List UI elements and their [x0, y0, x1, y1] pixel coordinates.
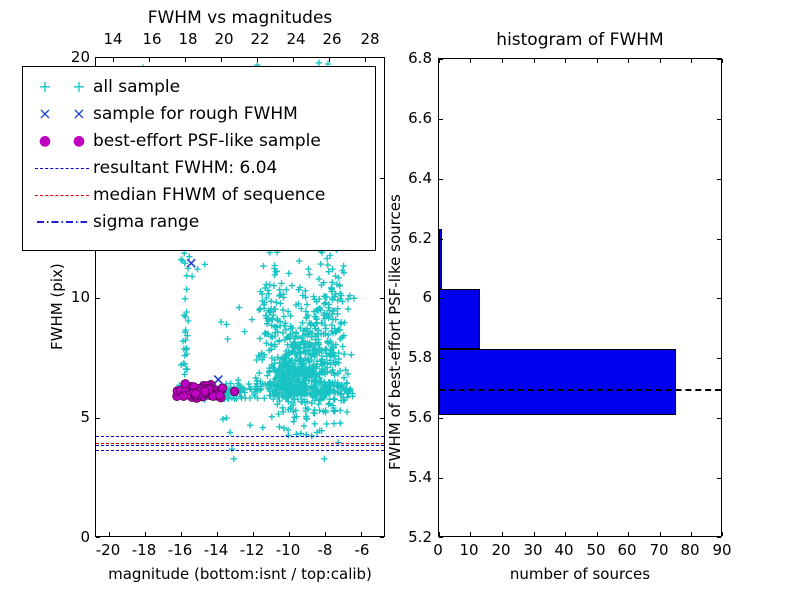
figure-canvas: FWHM vs magnitudes 14 16 18 20 22 24 26 … [0, 0, 800, 600]
histogram-xtick: 30 [523, 541, 542, 559]
axis-tick [660, 59, 661, 63]
scatter-xtop-tick: 26 [322, 30, 341, 48]
scatter-xtop-tick: 20 [214, 30, 233, 48]
scatter-xtop-tick: 28 [360, 30, 379, 48]
sigma-range-lower-line [96, 450, 384, 451]
axis-tick [628, 532, 629, 536]
scatter-ytick: 20 [62, 48, 90, 66]
legend-label: all sample [93, 77, 180, 97]
axis-tick [439, 59, 443, 60]
legend-marker-rough-fwhm: × × [31, 104, 93, 124]
scatter-xtick: -8 [318, 541, 333, 559]
axis-tick [439, 119, 443, 120]
legend-label: sigma range [93, 212, 199, 232]
scatter-xtick: -18 [132, 541, 157, 559]
axis-tick [717, 59, 721, 60]
axis-tick [722, 59, 723, 63]
axis-tick [439, 358, 443, 359]
axis-tick [439, 239, 443, 240]
histogram-axes [438, 58, 722, 537]
histogram-bar [439, 349, 676, 415]
histogram-ylabel: FWHM of best-effort PSF-like sources [386, 194, 404, 470]
plus-icon: + [38, 79, 51, 95]
legend-row-all-sample[interactable]: + + all sample [31, 73, 365, 100]
axis-tick [717, 358, 721, 359]
axis-tick [502, 59, 503, 63]
axis-tick [597, 59, 598, 63]
axis-tick [565, 532, 566, 536]
histogram-median-line [439, 389, 721, 391]
axis-tick [439, 298, 443, 299]
circle-icon: ● [39, 134, 51, 148]
histogram-title: histogram of FWHM [496, 30, 663, 50]
legend-row-psf-sample[interactable]: ● ● best-effort PSF-like sample [31, 127, 365, 154]
scatter-xtick: -10 [276, 541, 301, 559]
scatter-ytick: 5 [62, 408, 90, 426]
axis-tick [439, 478, 443, 479]
histogram-ytick: 6.8 [396, 49, 432, 67]
scatter-xtick: -12 [240, 541, 265, 559]
sigma-range-upper-line [96, 436, 384, 437]
axis-tick [439, 418, 443, 419]
scatter-xtick: -6 [355, 541, 370, 559]
scatter-xtick: -20 [96, 541, 121, 559]
histogram-bar [439, 289, 480, 349]
scatter-xtop-tick: 24 [286, 30, 305, 48]
histogram-bar [439, 229, 442, 289]
legend-label: best-effort PSF-like sample [93, 131, 321, 151]
histogram-xlabel: number of sources [510, 565, 650, 583]
scatter-xtick: -14 [204, 541, 229, 559]
histogram-xtick: 80 [680, 541, 699, 559]
scatter-title: FWHM vs magnitudes [148, 8, 333, 28]
axis-tick [691, 59, 692, 63]
axis-tick [722, 532, 723, 536]
scatter-xtop-tick: 14 [103, 30, 122, 48]
histogram-ytick: 5.4 [396, 468, 432, 486]
scatter-xlabel: magnitude (bottom:isnt / top:calib) [108, 565, 372, 583]
axis-tick [691, 532, 692, 536]
median-fwhm-line [96, 443, 384, 444]
legend-row-median-fwhm[interactable]: median FHWM of sequence [31, 181, 365, 208]
axis-tick [534, 532, 535, 536]
legend-row-sigma-range[interactable]: sigma range [31, 208, 365, 235]
axis-tick [717, 119, 721, 120]
axis-tick [380, 537, 384, 538]
histogram-xtick: 40 [554, 541, 573, 559]
scatter-ylabel: FWHM (pix) [48, 263, 66, 350]
legend-line-median-fwhm [31, 185, 93, 205]
legend-label: median FHWM of sequence [93, 185, 325, 205]
legend-row-resultant-fwhm[interactable]: resultant FWHM: 6.04 [31, 154, 365, 181]
histogram-ytick: 5.2 [396, 528, 432, 546]
cross-icon: × [38, 106, 51, 122]
axis-tick [439, 532, 440, 536]
legend-label: sample for rough FWHM [93, 104, 298, 124]
histogram-ytick: 6.4 [396, 169, 432, 187]
axis-tick [470, 532, 471, 536]
axis-tick [439, 537, 443, 538]
histogram-xtick: 60 [617, 541, 636, 559]
plus-icon: + [72, 79, 85, 95]
legend-marker-psf-sample: ● ● [31, 131, 93, 151]
histogram-ytick: 6.6 [396, 109, 432, 127]
axis-tick [470, 59, 471, 63]
circle-icon: ● [73, 134, 85, 148]
legend-marker-all-sample: + + [31, 77, 93, 97]
histogram-xtick: 50 [586, 541, 605, 559]
axis-tick [717, 298, 721, 299]
axis-tick [717, 478, 721, 479]
scatter-xtop-tick: 16 [142, 30, 161, 48]
dashdot-line-icon [31, 215, 93, 229]
scatter-xtop-tick: 22 [250, 30, 269, 48]
axis-tick [717, 179, 721, 180]
legend-line-resultant-fwhm [31, 158, 93, 178]
resultant-fwhm-line [96, 445, 384, 446]
scatter-xtop-tick: 18 [178, 30, 197, 48]
axis-tick [717, 239, 721, 240]
axis-tick [534, 59, 535, 63]
scatter-ytick: 10 [62, 288, 90, 306]
axis-tick [565, 59, 566, 63]
histogram-xtick: 70 [649, 541, 668, 559]
histogram-xtick: 0 [433, 541, 443, 559]
axis-tick [660, 532, 661, 536]
scatter-xtick: -16 [168, 541, 193, 559]
legend-row-rough-fwhm[interactable]: × × sample for rough FWHM [31, 100, 365, 127]
histogram-panel: histogram of FWHM [400, 0, 800, 600]
cross-icon: × [72, 106, 85, 122]
axis-tick [439, 179, 443, 180]
dashed-line-icon [35, 195, 89, 196]
histogram-xtick: 20 [491, 541, 510, 559]
histogram-xtick: 90 [712, 541, 731, 559]
axis-tick [96, 537, 100, 538]
histogram-xtick: 10 [459, 541, 478, 559]
scatter-ytick: 0 [62, 528, 90, 546]
scatter-legend: + + all sample × × sample for rough FWHM… [22, 66, 376, 251]
axis-tick [717, 537, 721, 538]
axis-tick [597, 532, 598, 536]
axis-tick [717, 418, 721, 419]
legend-label: resultant FWHM: 6.04 [93, 158, 277, 178]
axis-tick [628, 59, 629, 63]
legend-line-sigma-range [31, 212, 93, 232]
axis-tick [502, 532, 503, 536]
dashed-line-icon [35, 168, 89, 169]
